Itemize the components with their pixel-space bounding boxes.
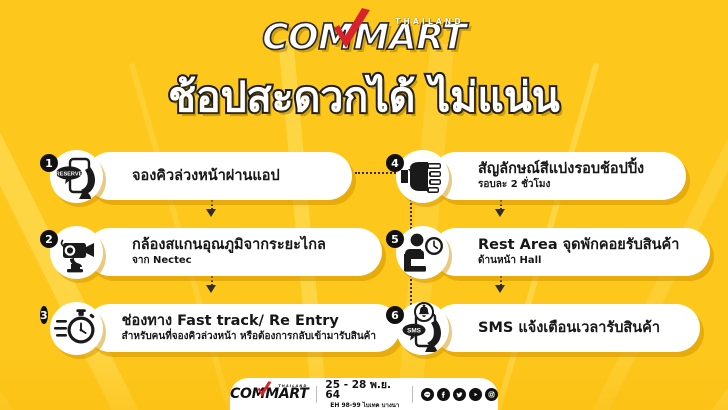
card-text-3: ช่องทาง Fast track/ Re Entry สำหรับคนที่… <box>122 304 376 352</box>
step-badge-1: 1 <box>40 154 58 172</box>
card-text-4: สัญลักษณ์สีแบ่งรอบช้อปปิ้ง รอบละ 2 ชั่วโ… <box>478 152 644 200</box>
line-icon[interactable] <box>421 388 434 401</box>
card-title-6: SMS แจ้งเตือนเวลารับสินค้า <box>478 320 660 337</box>
phone-reserve-icon: RESERVE <box>50 150 103 203</box>
step-card-5[interactable]: 5 Rest Area จุดพักคอยรับสินค้า ด้านหน้า … <box>388 228 688 276</box>
step-badge-5: 5 <box>386 230 404 248</box>
svg-text:SMS: SMS <box>407 327 422 334</box>
phone-sms-bell-icon: SMS <box>396 302 449 355</box>
card-text-5: Rest Area จุดพักคอยรับสินค้า ด้านหน้า Ha… <box>478 228 679 276</box>
step-badge-3: 3 <box>40 306 48 324</box>
seated-person-clock-icon <box>396 226 449 279</box>
card-title-1: จองคิวล่วงหน้าผ่านแอป <box>132 168 280 185</box>
thermal-camera-icon <box>50 226 103 279</box>
card-subtitle-4: รอบละ 2 ชั่วโมง <box>478 179 644 191</box>
red-check-icon <box>330 8 374 56</box>
step-card-1[interactable]: RESERVE 1 จองคิวล่วงหน้าผ่านแอป <box>42 152 352 200</box>
youtube-icon[interactable] <box>469 388 482 401</box>
card-title-2: กล้องสแกนอุณภูมิจากระยะไกล <box>132 237 326 254</box>
card-title-5: Rest Area จุดพักคอยรับสินค้า <box>478 237 679 254</box>
card-subtitle-2: จาก Nectec <box>132 255 326 267</box>
step-badge-6: 6 <box>386 306 404 324</box>
footer-divider-2 <box>412 386 413 403</box>
card-subtitle-5: ด้านหน้า Hall <box>478 255 679 267</box>
header-logo: THAILAND COMMART <box>0 20 728 56</box>
card-title-4: สัญลักษณ์สีแบ่งรอบช้อปปิ้ง <box>478 161 644 178</box>
step-card-4[interactable]: 4 สัญลักษณ์สีแบ่งรอบช้อปปิ้ง รอบละ 2 ชั่… <box>388 152 688 200</box>
footer-red-check-icon <box>256 381 273 400</box>
logo-superscript: THAILAND <box>395 17 464 26</box>
step-badge-4: 4 <box>386 154 404 172</box>
infographic-poster: THAILAND COMMART ช้อปสะดวกได้ ไม่แน่น <box>0 0 728 410</box>
footer-event-info: 25 - 28 พ.ย. 64 EH 98-99 ไบเทค บางนา <box>325 380 404 409</box>
wristband-hand-icon <box>396 150 449 203</box>
footer-logo: THAILAND COMMART <box>230 386 308 402</box>
stopwatch-fast-icon <box>50 302 103 355</box>
svg-text:RESERVE: RESERVE <box>56 172 83 178</box>
page-title: ช้อปสะดวกได้ ไม่แน่น <box>0 74 728 121</box>
card-text-6: SMS แจ้งเตือนเวลารับสินค้า <box>478 304 660 352</box>
card-text-1: จองคิวล่วงหน้าผ่านแอป <box>132 152 280 200</box>
step-card-3[interactable]: 3 ช่องทาง Fast track/ Re Entry สำหรับคนท… <box>42 304 362 352</box>
footer-bar: THAILAND COMMART 25 - 28 พ.ย. 64 EH 98-9… <box>230 378 498 410</box>
facebook-icon[interactable] <box>437 388 450 401</box>
step-card-2[interactable]: 2 กล้องสแกนอุณภูมิจากระยะไกล จาก Nectec <box>42 228 352 276</box>
card-title-3: ช่องทาง Fast track/ Re Entry <box>122 313 376 330</box>
twitter-icon[interactable] <box>453 388 466 401</box>
connector-arrow-5-6 <box>495 285 505 293</box>
connector-arrow-2-3 <box>206 285 216 293</box>
card-text-2: กล้องสแกนอุณภูมิจากระยะไกล จาก Nectec <box>132 228 326 276</box>
footer-venue: EH 98-99 ไบเทค บางนา <box>330 403 399 409</box>
connector-arrow-1-2 <box>206 209 216 217</box>
connector-arrow-4-5 <box>495 209 505 217</box>
footer-logo-superscript: THAILAND <box>278 384 307 388</box>
instagram-icon[interactable] <box>485 388 498 401</box>
social-links <box>421 388 498 401</box>
footer-divider-1 <box>316 386 317 403</box>
step-card-6[interactable]: SMS 6 SMS แจ้งเตือนเวลารับสินค้า <box>388 304 688 352</box>
footer-date: 25 - 28 พ.ย. 64 <box>325 380 404 401</box>
card-subtitle-3: สำหรับคนที่จองคิวล่วงหน้า หรือต้องการกลั… <box>122 331 376 343</box>
step-badge-2: 2 <box>40 230 58 248</box>
